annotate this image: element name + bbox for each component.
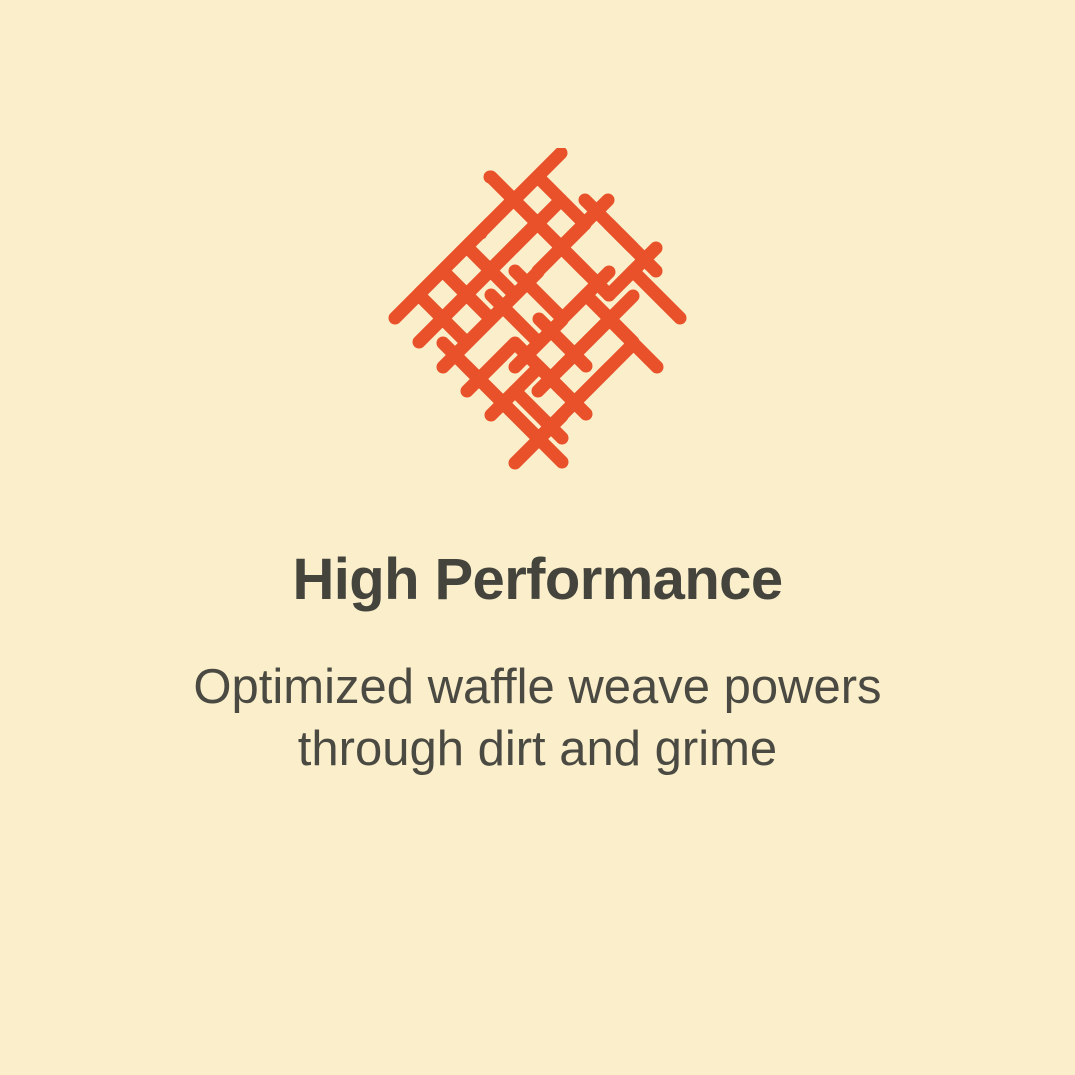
feature-title: High Performance [293, 548, 783, 613]
waffle-weave-icon [368, 148, 708, 488]
feature-icon-container [0, 130, 1075, 505]
feature-text-block: High Performance Optimized waffle weave … [0, 548, 1075, 780]
feature-card: High Performance Optimized waffle weave … [0, 0, 1075, 1075]
feature-subtitle-line-2: through dirt and grime [193, 719, 881, 781]
feature-subtitle-line-1: Optimized waffle weave powers [193, 657, 881, 719]
feature-subtitle: Optimized waffle weave powers through di… [193, 657, 881, 780]
